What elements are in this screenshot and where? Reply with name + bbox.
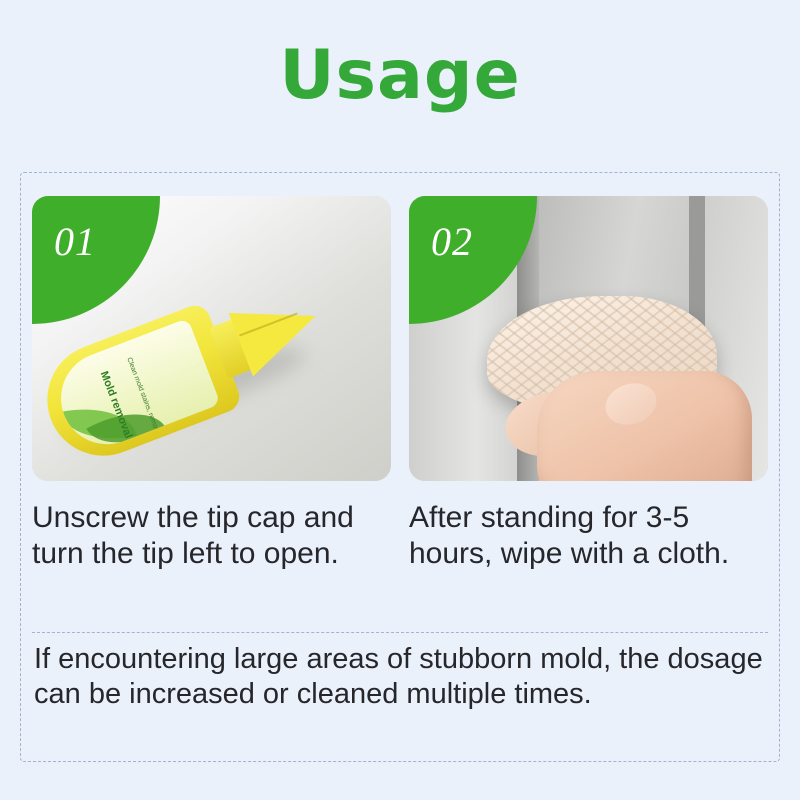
step-card-2: 02 <box>409 196 768 481</box>
usage-page: Usage Mold removal gel Clean mold stains… <box>0 0 800 800</box>
step-1-caption: Unscrew the tip cap and turn the tip lef… <box>32 500 391 572</box>
page-title: Usage <box>0 0 800 110</box>
steps-image-row: Mold removal gel Clean mold stains, remo… <box>32 196 768 481</box>
step-2-photo: 02 <box>409 196 768 481</box>
step-card-1: Mold removal gel Clean mold stains, remo… <box>32 196 391 481</box>
footnote-text: If encountering large areas of stubborn … <box>34 642 774 712</box>
footnote-divider <box>32 632 768 633</box>
step-2-number: 02 <box>431 218 473 265</box>
steps-caption-row: Unscrew the tip cap and turn the tip lef… <box>32 500 768 572</box>
bottle-label: Mold removal gel Clean mold stains, remo… <box>48 318 221 458</box>
step-1-number: 01 <box>54 218 96 265</box>
step-2-caption: After standing for 3-5 hours, wipe with … <box>409 500 768 572</box>
step-1-photo: Mold removal gel Clean mold stains, remo… <box>32 196 391 481</box>
